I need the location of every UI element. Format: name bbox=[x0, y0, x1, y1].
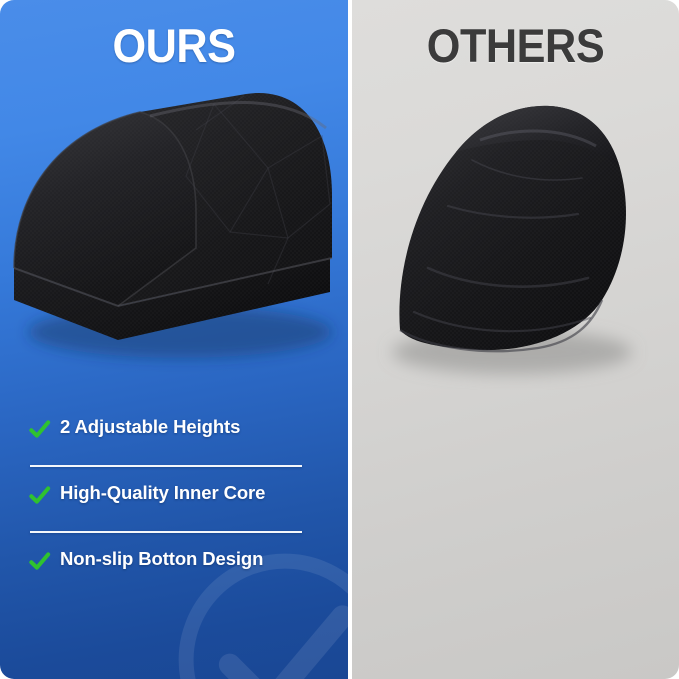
others-panel: OTHERS Not Adjustable Height Easily Defo… bbox=[352, 0, 679, 679]
ours-feature-label-3: Non-slip Botton Design bbox=[60, 548, 263, 570]
ours-feature-list: 2 Adjustable Heights High-Quality Inner … bbox=[28, 408, 320, 590]
ours-feature-item-2: High-Quality Inner Core bbox=[28, 473, 320, 524]
ours-panel: OURS 2 Adjustable Heights High-Quality I… bbox=[0, 0, 348, 679]
comparison-infographic: OURS 2 Adjustable Heights High-Quality I… bbox=[0, 0, 679, 679]
green-check-icon bbox=[28, 418, 51, 441]
green-check-icon bbox=[28, 550, 51, 573]
ours-feature-item-1: 2 Adjustable Heights bbox=[28, 408, 320, 458]
ours-feature-label-1: 2 Adjustable Heights bbox=[60, 416, 240, 438]
ours-feature-item-3: Non-slip Botton Design bbox=[28, 539, 320, 590]
ours-divider-2 bbox=[30, 531, 302, 533]
others-heading: OTHERS bbox=[365, 22, 666, 69]
ours-divider-1 bbox=[30, 465, 302, 467]
ours-heading: OURS bbox=[14, 22, 334, 69]
ours-feature-label-2: High-Quality Inner Core bbox=[60, 482, 265, 504]
green-check-icon bbox=[28, 484, 51, 507]
